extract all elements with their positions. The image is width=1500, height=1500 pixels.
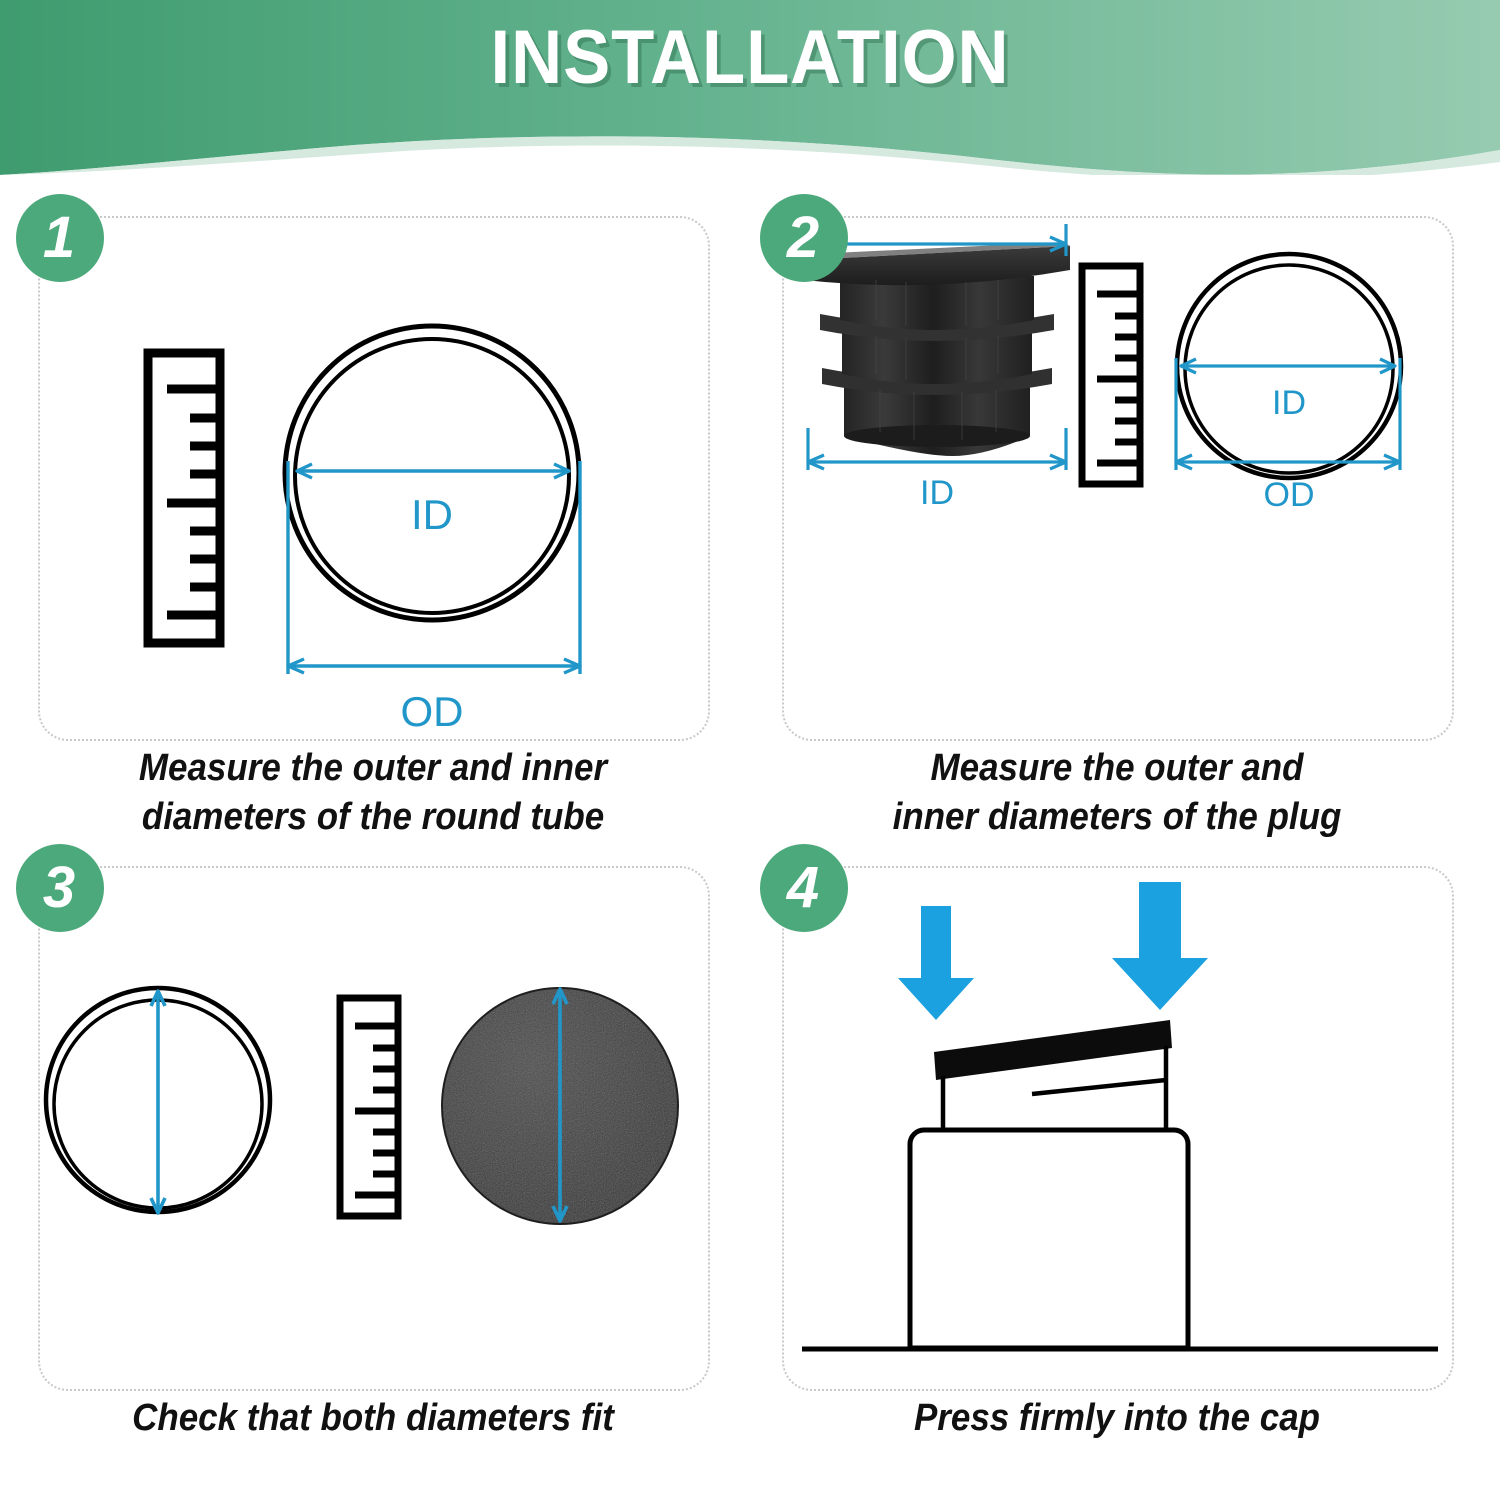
tube-plug-photo xyxy=(804,242,1070,456)
ruler-icon xyxy=(1082,266,1140,484)
ruler-icon xyxy=(148,353,220,643)
steps-grid: ID OD 1 Measure the outer and inner diam… xyxy=(0,178,1500,1500)
page-title: INSTALLATION xyxy=(53,14,1448,101)
ruler-icon xyxy=(340,998,398,1216)
step-2-caption: Measure the outer and inner diameters of… xyxy=(781,744,1453,841)
page-header: INSTALLATION xyxy=(0,0,1500,175)
step-1: ID OD 1 Measure the outer and inner diam… xyxy=(8,188,738,838)
step-2-badge: 2 xyxy=(760,194,848,282)
id-label: ID xyxy=(411,491,453,538)
step-3-caption: Check that both diameters fit xyxy=(37,1394,709,1443)
step-2: OD ID xyxy=(752,188,1482,838)
circle-od-label: OD xyxy=(1264,476,1315,514)
circle-id-label: ID xyxy=(1272,384,1306,422)
step-3-diagram xyxy=(40,868,712,1393)
step-4-badge: 4 xyxy=(760,844,848,932)
step-1-panel: ID OD xyxy=(38,216,710,741)
step-1-diagram: ID OD xyxy=(40,218,712,743)
tube-body-icon xyxy=(910,1130,1188,1348)
tube-cross-section-icon xyxy=(285,326,579,620)
step-3-badge: 3 xyxy=(16,844,104,932)
step-4-panel xyxy=(782,866,1454,1391)
step-1-badge: 1 xyxy=(16,194,104,282)
od-label: OD xyxy=(401,688,464,735)
step-4-diagram xyxy=(784,868,1456,1393)
plug-id-label: ID xyxy=(920,474,954,512)
step-3: 3 Check that both diameters fit xyxy=(8,838,738,1488)
press-arrow-right-icon xyxy=(1112,882,1208,1010)
step-2-panel: OD ID xyxy=(782,216,1454,741)
step-3-panel xyxy=(38,866,710,1391)
installation-infographic: INSTALLATION xyxy=(0,0,1500,1500)
plug-od-label: OD xyxy=(912,218,963,224)
press-arrow-left-icon xyxy=(898,906,974,1020)
step-4-caption: Press firmly into the cap xyxy=(781,1394,1453,1443)
step-1-caption: Measure the outer and inner diameters of… xyxy=(37,744,709,841)
tilted-cap-icon xyxy=(934,1020,1172,1080)
step-4: 4 Press firmly into the cap xyxy=(752,838,1482,1488)
step-2-diagram: OD ID xyxy=(784,218,1456,743)
